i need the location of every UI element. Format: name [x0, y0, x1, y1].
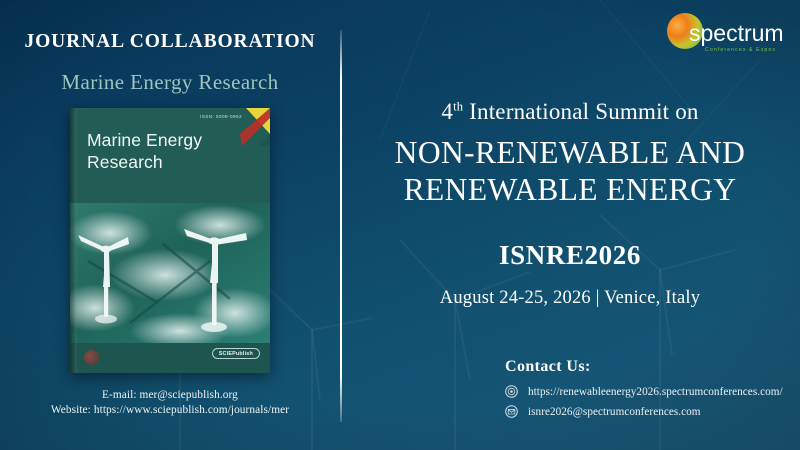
contact-website-url[interactable]: https://renewableenergy2026.spectrumconf… — [528, 386, 783, 398]
sciepublish-logo: SCIEPublish — [212, 348, 260, 359]
event-title: NON-RENEWABLE AND RENEWABLE ENERGY — [340, 134, 800, 208]
globe-icon — [505, 385, 518, 398]
event-preline: 4th International Summit on — [340, 99, 800, 125]
event-edition-number: 4 — [441, 99, 453, 124]
cover-spine — [70, 108, 77, 373]
spectrum-wordmark: spectrum — [689, 20, 784, 46]
journal-collaboration-panel: JOURNAL COLLABORATION Marine Energy Rese… — [0, 0, 340, 450]
cover-title-line-1: Marine Energy — [87, 130, 202, 152]
spectrum-logo[interactable]: spectrum Conferences & Expos — [661, 10, 786, 58]
cover-title-line-2: Research — [87, 152, 202, 174]
cover-issn: ISSN: 5008-0952 — [200, 114, 242, 119]
event-title-line-1: NON-RENEWABLE AND — [340, 134, 800, 171]
cover-footer-band: SCIEPublish — [70, 343, 270, 373]
event-details-panel: spectrum Conferences & Expos 4th Interna… — [340, 0, 800, 450]
event-date-venue: August 24-25, 2026 | Venice, Italy — [340, 288, 800, 309]
cover-offshore-wind-photo — [70, 203, 270, 343]
contact-email-address[interactable]: isnre2026@spectrumconferences.com — [528, 406, 701, 418]
event-title-line-2: RENEWABLE ENERGY — [340, 171, 800, 208]
journal-name: Marine Energy Research — [0, 70, 340, 95]
event-acronym: ISNRE2026 — [340, 240, 800, 271]
journal-cover-image: ISSN: 5008-0952 Marine Energy Research — [70, 108, 270, 373]
cover-corner-ribbon-icon — [240, 108, 270, 146]
event-preline-rest: International Summit on — [469, 99, 698, 124]
conference-promo-poster: JOURNAL COLLABORATION Marine Energy Rese… — [0, 0, 800, 450]
contact-section: Contact Us: https://renewableenergy2026.… — [505, 358, 800, 425]
event-edition-suffix: th — [453, 99, 463, 113]
cover-title: Marine Energy Research — [87, 130, 202, 173]
journal-email: E-mail: mer@sciepublish.org — [0, 389, 340, 401]
cover-footer-dot-icon — [84, 350, 99, 365]
journal-website: Website: https://www.sciepublish.com/jou… — [0, 404, 340, 416]
journal-collaboration-heading: JOURNAL COLLABORATION — [0, 31, 340, 53]
contact-email-row[interactable]: isnre2026@spectrumconferences.com — [505, 405, 800, 418]
email-icon — [505, 405, 518, 418]
spectrum-tagline: Conferences & Expos — [705, 47, 776, 53]
contact-website-row[interactable]: https://renewableenergy2026.spectrumconf… — [505, 385, 800, 398]
contact-heading: Contact Us: — [505, 358, 800, 376]
